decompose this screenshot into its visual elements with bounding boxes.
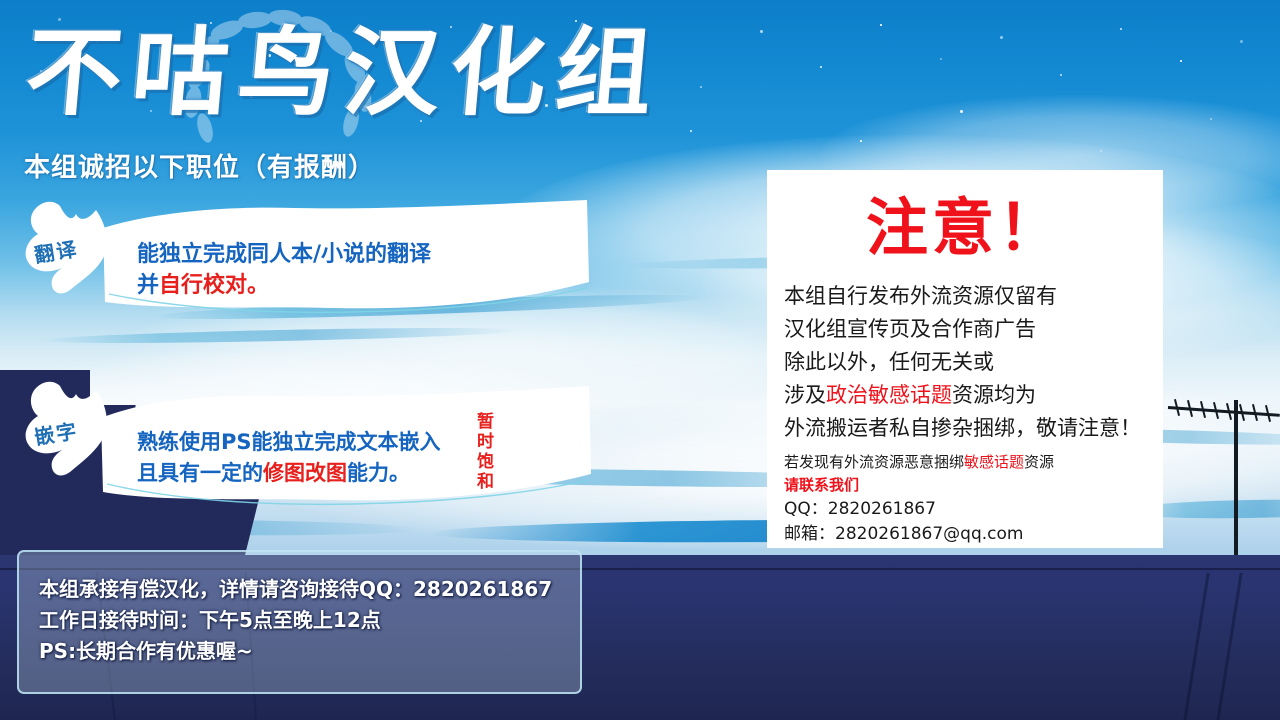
position-status-badge: 暂时饱和 (473, 412, 492, 492)
position-requirement-line2: 并自行校对。 (137, 267, 269, 299)
notice-line-prefix: 涉及 (784, 383, 826, 407)
contact-email[interactable]: 邮箱：2820261867@qq.com (784, 522, 1163, 547)
warning-prefix: 若发现有外流资源恶意捆绑 (784, 453, 964, 471)
notice-line: 除此以外，任何无关或 (784, 346, 1163, 379)
position-requirement-line2: 且具有一定的修图改图能力。 (137, 457, 410, 487)
notice-line: 汉化组宣传页及合作商广告 (784, 313, 1163, 346)
line2-part-b: 能力。 (347, 461, 410, 485)
service-info-panel: 本组承接有偿汉化，详情请咨询接待QQ：2820261867 工作日接待时间：下午… (17, 550, 582, 694)
notice-line: 本组自行发布外流资源仅留有 (784, 280, 1163, 313)
warning-red: 敏感话题 (964, 453, 1024, 471)
position-requirement-line1: 能独立完成同人本/小说的翻译 (137, 236, 431, 268)
line2-part-a: 且具有一定的 (137, 461, 263, 485)
contact-us-label: 请联系我们 (784, 474, 1163, 497)
position-requirement-line1: 熟练使用PS能独立完成文本嵌入 (137, 426, 441, 456)
page-title: 不咕鸟汉化组 (21, 14, 762, 139)
notice-panel: 注意！ 本组自行发布外流资源仅留有 汉化组宣传页及合作商广告 除此以外，任何无关… (767, 170, 1163, 548)
notice-body: 本组自行发布外流资源仅留有 汉化组宣传页及合作商广告 除此以外，任何无关或 涉及… (784, 280, 1163, 547)
notice-line: 外流搬运者私自掺杂捆绑，敬请注意！ (784, 412, 1163, 445)
position-card-translator: 能独立完成同人本/小说的翻译 并自行校对。 (95, 198, 595, 316)
service-line-ps: PS:长期合作有优惠喔~ (39, 636, 580, 667)
line2-blue-part: 并 (137, 273, 159, 298)
service-line-hours: 工作日接待时间：下午5点至晚上12点 (39, 605, 580, 636)
notice-title: 注意！ (767, 192, 1163, 264)
service-line-paid-translation: 本组承接有偿汉化，详情请咨询接待QQ：2820261867 (39, 574, 580, 605)
position-tag-typesetter: 嵌字 (18, 378, 128, 493)
contact-qq[interactable]: QQ：2820261867 (784, 497, 1163, 522)
page-subtitle: 本组诚招以下职位（有报酬） (24, 147, 375, 184)
line2-red-part: 自行校对。 (159, 273, 269, 298)
poster-canvas: 不咕鸟汉化组 本组诚招以下职位（有报酬） 能独立完成同人本/小说的翻译 并自行校… (0, 0, 1280, 720)
position-tag-translator: 翻译 (18, 198, 128, 308)
line2-red-part: 修图改图 (263, 461, 347, 485)
notice-line-red: 政治敏感话题 (826, 383, 952, 407)
warning-suffix: 资源 (1024, 453, 1054, 471)
notice-line-suffix: 资源均为 (952, 383, 1036, 407)
notice-line-highlighted: 涉及政治敏感话题资源均为 (784, 379, 1163, 412)
notice-warning-line: 若发现有外流资源恶意捆绑敏感话题资源 (784, 451, 1163, 474)
antenna-mast-icon (1234, 400, 1238, 565)
position-card-typesetter: 熟练使用PS能独立完成文本嵌入 且具有一定的修图改图能力。 暂时饱和 (95, 384, 595, 508)
